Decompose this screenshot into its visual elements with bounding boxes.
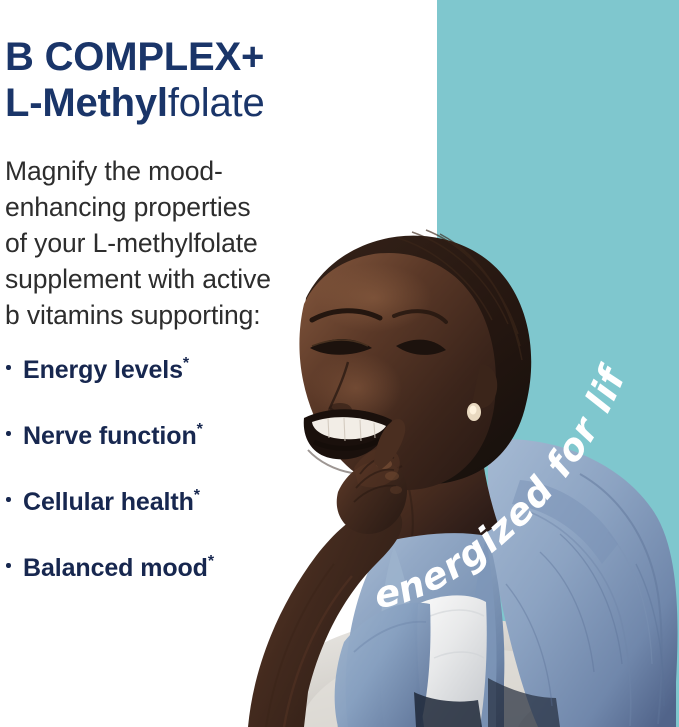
benefit-label: Nerve function	[23, 422, 197, 450]
list-item: Balanced mood*	[3, 554, 333, 620]
benefit-label: Cellular health	[23, 488, 194, 516]
title-line-2-bold: L-Methyl	[5, 81, 168, 125]
list-item: Energy levels*	[3, 356, 333, 422]
footnote-asterisk: *	[208, 553, 214, 570]
body-line: enhancing properties	[5, 189, 355, 225]
footnote-asterisk: *	[194, 487, 200, 504]
body-line: b vitamins supporting:	[5, 297, 355, 333]
bullet-dot-icon	[6, 563, 11, 568]
bullet-dot-icon	[6, 497, 11, 502]
list-item: Nerve function*	[3, 422, 333, 488]
footnote-asterisk: *	[197, 421, 203, 438]
title-line-1: B COMPLEX+	[5, 34, 425, 80]
bullet-dot-icon	[6, 431, 11, 436]
title-line-2: L-Methylfolate	[5, 80, 425, 126]
body-line: of your L-methylfolate	[5, 225, 355, 261]
body-paragraph: Magnify the mood- enhancing properties o…	[5, 153, 355, 333]
benefit-label: Energy levels	[23, 356, 183, 384]
body-line: Magnify the mood-	[5, 153, 355, 189]
product-marketing-banner: B COMPLEX+ L-Methylfolate Magnify the mo…	[0, 0, 679, 727]
footnote-asterisk: *	[183, 355, 189, 372]
body-line: supplement with active	[5, 261, 355, 297]
title-line-2-light: folate	[168, 81, 265, 125]
list-item: Cellular health*	[3, 488, 333, 554]
benefit-label: Balanced mood	[23, 554, 208, 582]
bullet-dot-icon	[6, 365, 11, 370]
page-title: B COMPLEX+ L-Methylfolate	[5, 34, 425, 126]
benefits-list: Energy levels* Nerve function* Cellular …	[3, 356, 333, 620]
